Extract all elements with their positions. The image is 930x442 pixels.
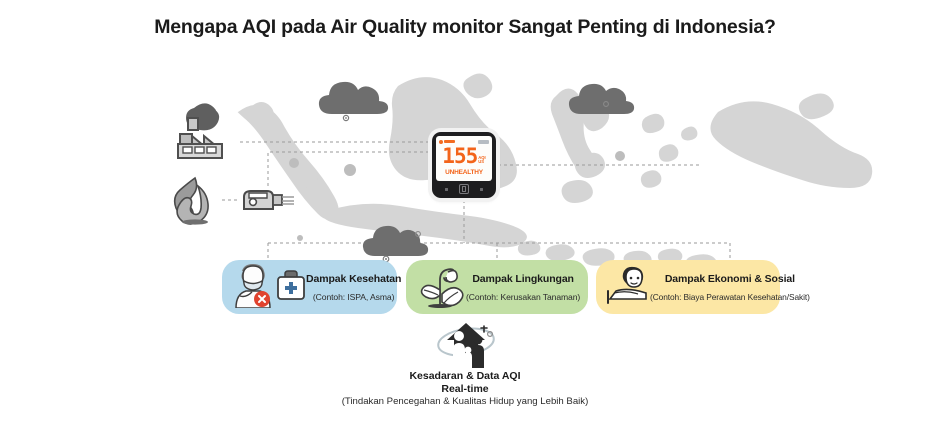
pollution-cloud-icon <box>316 78 394 122</box>
outcome-line-3: (Tindakan Pencegahan & Kualitas Hidup ya… <box>0 396 930 409</box>
page-title: Mengapa AQI pada Air Quality monitor San… <box>0 16 930 39</box>
wilting-plant-icon <box>418 262 466 313</box>
impact-card-economy-text: Dampak Ekonomi & Sosial (Contoh: Biaya P… <box>650 269 810 306</box>
fire-icon <box>172 176 218 226</box>
sick-person-in-bed-icon <box>606 265 650 310</box>
impact-card-environment-subtitle: (Contoh: Kerusakan Tanaman) <box>466 292 580 302</box>
impact-card-health-text: Dampak Kesehatan (Contoh: ISPA, Asma) <box>306 269 401 306</box>
impact-card-environment-title: Dampak Lingkungan <box>472 273 574 285</box>
monitor-reading: 155 AQI US <box>436 144 492 169</box>
monitor-buttons[interactable] <box>436 184 492 194</box>
vehicle-icon <box>240 183 296 217</box>
impact-card-economy[interactable]: Dampak Ekonomi & Sosial (Contoh: Biaya P… <box>596 260 780 314</box>
impact-card-environment-text: Dampak Lingkungan (Contoh: Kerusakan Tan… <box>466 269 580 306</box>
monitor-right-button[interactable] <box>480 188 483 191</box>
aqi-value: 155 <box>442 146 477 167</box>
monitor-screen: 155 AQI US UNHEALTHY <box>436 136 492 181</box>
impact-card-health[interactable]: Dampak Kesehatan (Contoh: ISPA, Asma) <box>222 260 397 314</box>
aqi-unit-line2: US <box>478 159 484 164</box>
masked-person-icon <box>232 262 274 313</box>
impact-card-health-title: Dampak Kesehatan <box>306 273 401 285</box>
monitor-brand-logo <box>439 140 455 144</box>
impact-card-environment[interactable]: Dampak Lingkungan (Contoh: Kerusakan Tan… <box>406 260 588 314</box>
battery-icon <box>478 140 489 144</box>
family-home-icon <box>434 318 498 370</box>
outcome-line-2: Real-time <box>0 383 930 396</box>
monitor-left-button[interactable] <box>445 188 448 191</box>
outcome-line-1: Kesadaran & Data AQI <box>0 370 930 383</box>
infographic-canvas: Mengapa AQI pada Air Quality monitor San… <box>0 0 930 437</box>
first-aid-kit-icon <box>276 268 306 307</box>
air-quality-monitor[interactable]: 155 AQI US UNHEALTHY <box>432 132 496 198</box>
pollution-cloud-icon <box>566 80 638 122</box>
factory-icon <box>168 100 240 168</box>
impact-card-economy-title: Dampak Ekonomi & Sosial <box>665 273 795 285</box>
pollution-cloud-icon <box>360 222 432 264</box>
monitor-power-button[interactable] <box>459 184 469 194</box>
aqi-unit: AQI US <box>478 149 485 165</box>
outcome-text: Kesadaran & Data AQI Real-time (Tindakan… <box>0 370 930 409</box>
impact-card-economy-subtitle: (Contoh: Biaya Perawatan Kesehatan/Sakit… <box>650 292 810 302</box>
aqi-status-label: UNHEALTHY <box>436 169 492 176</box>
impact-card-health-subtitle: (Contoh: ISPA, Asma) <box>313 292 394 302</box>
